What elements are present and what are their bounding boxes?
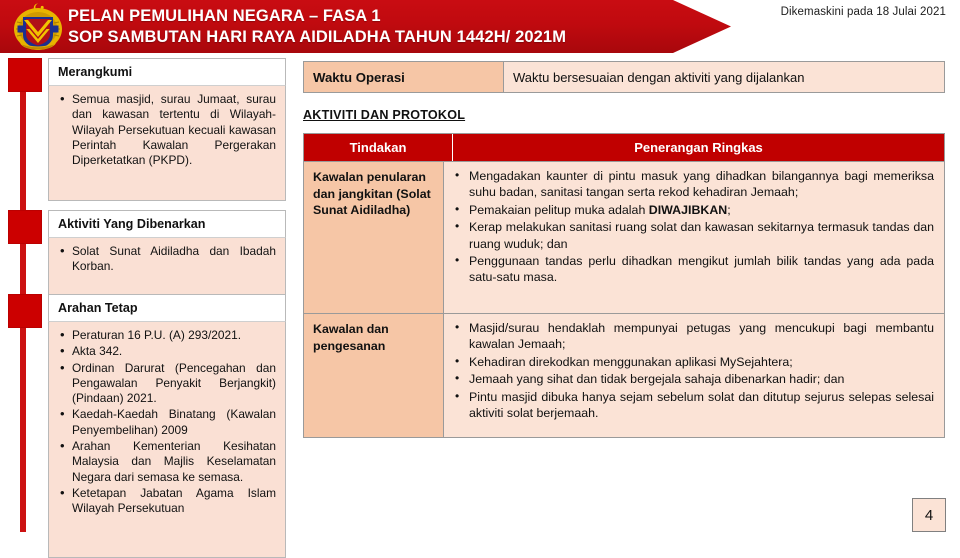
list-item: Jemaah yang sihat dan tidak bergejala sa… (452, 371, 934, 387)
table-row: Kawalan penularan dan jangkitan (Solat S… (304, 161, 944, 313)
timeline-marker-2 (8, 210, 42, 244)
aktiviti-protokol-table: Tindakan Penerangan Ringkas Kawalan penu… (303, 133, 945, 438)
column-header-penerangan-ringkas: Penerangan Ringkas (453, 134, 944, 161)
panel-merangkumi-body: Semua masjid, surau Jumaat, surau dan ka… (48, 85, 286, 201)
row-action-label: Kawalan penularan dan jangkitan (Solat S… (304, 161, 444, 313)
list-item: Akta 342. (58, 344, 276, 359)
list-item: Kaedah-Kaedah Binatang (Kawalan Penyembe… (58, 407, 276, 438)
list-item: Penggunaan tandas perlu dihadkan mengiku… (452, 253, 934, 286)
list-item: Kehadiran direkodkan menggunakan aplikas… (452, 354, 934, 370)
waktu-operasi-label: Waktu Operasi (304, 62, 504, 92)
list-item: Arahan Kementerian Kesihatan Malaysia da… (58, 439, 276, 485)
column-header-tindakan: Tindakan (304, 134, 453, 161)
list-item: Kerap melakukan sanitasi ruang solat dan… (452, 219, 934, 252)
list-item: Solat Sunat Aidiladha dan Ibadah Korban. (58, 244, 276, 275)
panel-aktiviti-yang-dibenarkan: Aktiviti Yang Dibenarkan Solat Sunat Aid… (48, 210, 286, 304)
panel-aktiviti-list: Solat Sunat Aidiladha dan Ibadah Korban. (58, 244, 276, 275)
waktu-operasi-row: Waktu Operasi Waktu bersesuaian dengan a… (303, 61, 945, 93)
panel-arahan-heading: Arahan Tetap (48, 294, 286, 321)
table-row: Kawalan dan pengesanan Masjid/surau hend… (304, 313, 944, 437)
page-number: 4 (912, 498, 946, 532)
list-item: Ordinan Darurat (Pencegahan dan Pengawal… (58, 361, 276, 407)
page-title: PELAN PEMULIHAN NEGARA – FASA 1 SOP SAMB… (68, 4, 668, 50)
timeline-marker-1 (8, 58, 42, 92)
last-updated-text: Dikemaskini pada 18 Julai 2021 (781, 6, 946, 18)
list-item: Peraturan 16 P.U. (A) 293/2021. (58, 328, 276, 343)
panel-merangkumi-list: Semua masjid, surau Jumaat, surau dan ka… (58, 92, 276, 168)
section-title-aktiviti-dan-protokol: AKTIVITI DAN PROTOKOL (303, 108, 465, 122)
panel-arahan-tetap: Arahan Tetap Peraturan 16 P.U. (A) 293/2… (48, 294, 286, 558)
panel-arahan-list: Peraturan 16 P.U. (A) 293/2021. Akta 342… (58, 328, 276, 517)
list-item: Semua masjid, surau Jumaat, surau dan ka… (58, 92, 276, 168)
list-item: Ketetapan Jabatan Agama Islam Wilayah Pe… (58, 486, 276, 517)
list-item: Mengadakan kaunter di pintu masuk yang d… (452, 168, 934, 201)
table-header-row: Tindakan Penerangan Ringkas (304, 134, 944, 161)
title-line-2: SOP SAMBUTAN HARI RAYA AIDILADHA TAHUN 1… (68, 27, 668, 48)
list-item: Masjid/surau hendaklah mempunyai petugas… (452, 320, 934, 353)
row-action-label: Kawalan dan pengesanan (304, 313, 444, 437)
row-details-list: Mengadakan kaunter di pintu masuk yang d… (452, 168, 934, 286)
panel-merangkumi: Merangkumi Semua masjid, surau Jumaat, s… (48, 58, 286, 201)
title-line-1: PELAN PEMULIHAN NEGARA – FASA 1 (68, 6, 668, 27)
federal-territories-crest-icon (11, 2, 65, 52)
row-details: Masjid/surau hendaklah mempunyai petugas… (444, 313, 944, 437)
waktu-operasi-value: Waktu bersesuaian dengan aktiviti yang d… (504, 62, 944, 92)
row-details-list: Masjid/surau hendaklah mempunyai petugas… (452, 320, 934, 421)
panel-arahan-body: Peraturan 16 P.U. (A) 293/2021. Akta 342… (48, 321, 286, 558)
timeline-marker-3 (8, 294, 42, 328)
list-item: Pintu masjid dibuka hanya sejam sebelum … (452, 389, 934, 422)
list-item: Pemakaian pelitup muka adalah DIWAJIBKAN… (452, 202, 934, 218)
panel-aktiviti-heading: Aktiviti Yang Dibenarkan (48, 210, 286, 237)
row-details: Mengadakan kaunter di pintu masuk yang d… (444, 161, 944, 313)
slide-root: PELAN PEMULIHAN NEGARA – FASA 1 SOP SAMB… (0, 0, 960, 540)
panel-merangkumi-heading: Merangkumi (48, 58, 286, 85)
